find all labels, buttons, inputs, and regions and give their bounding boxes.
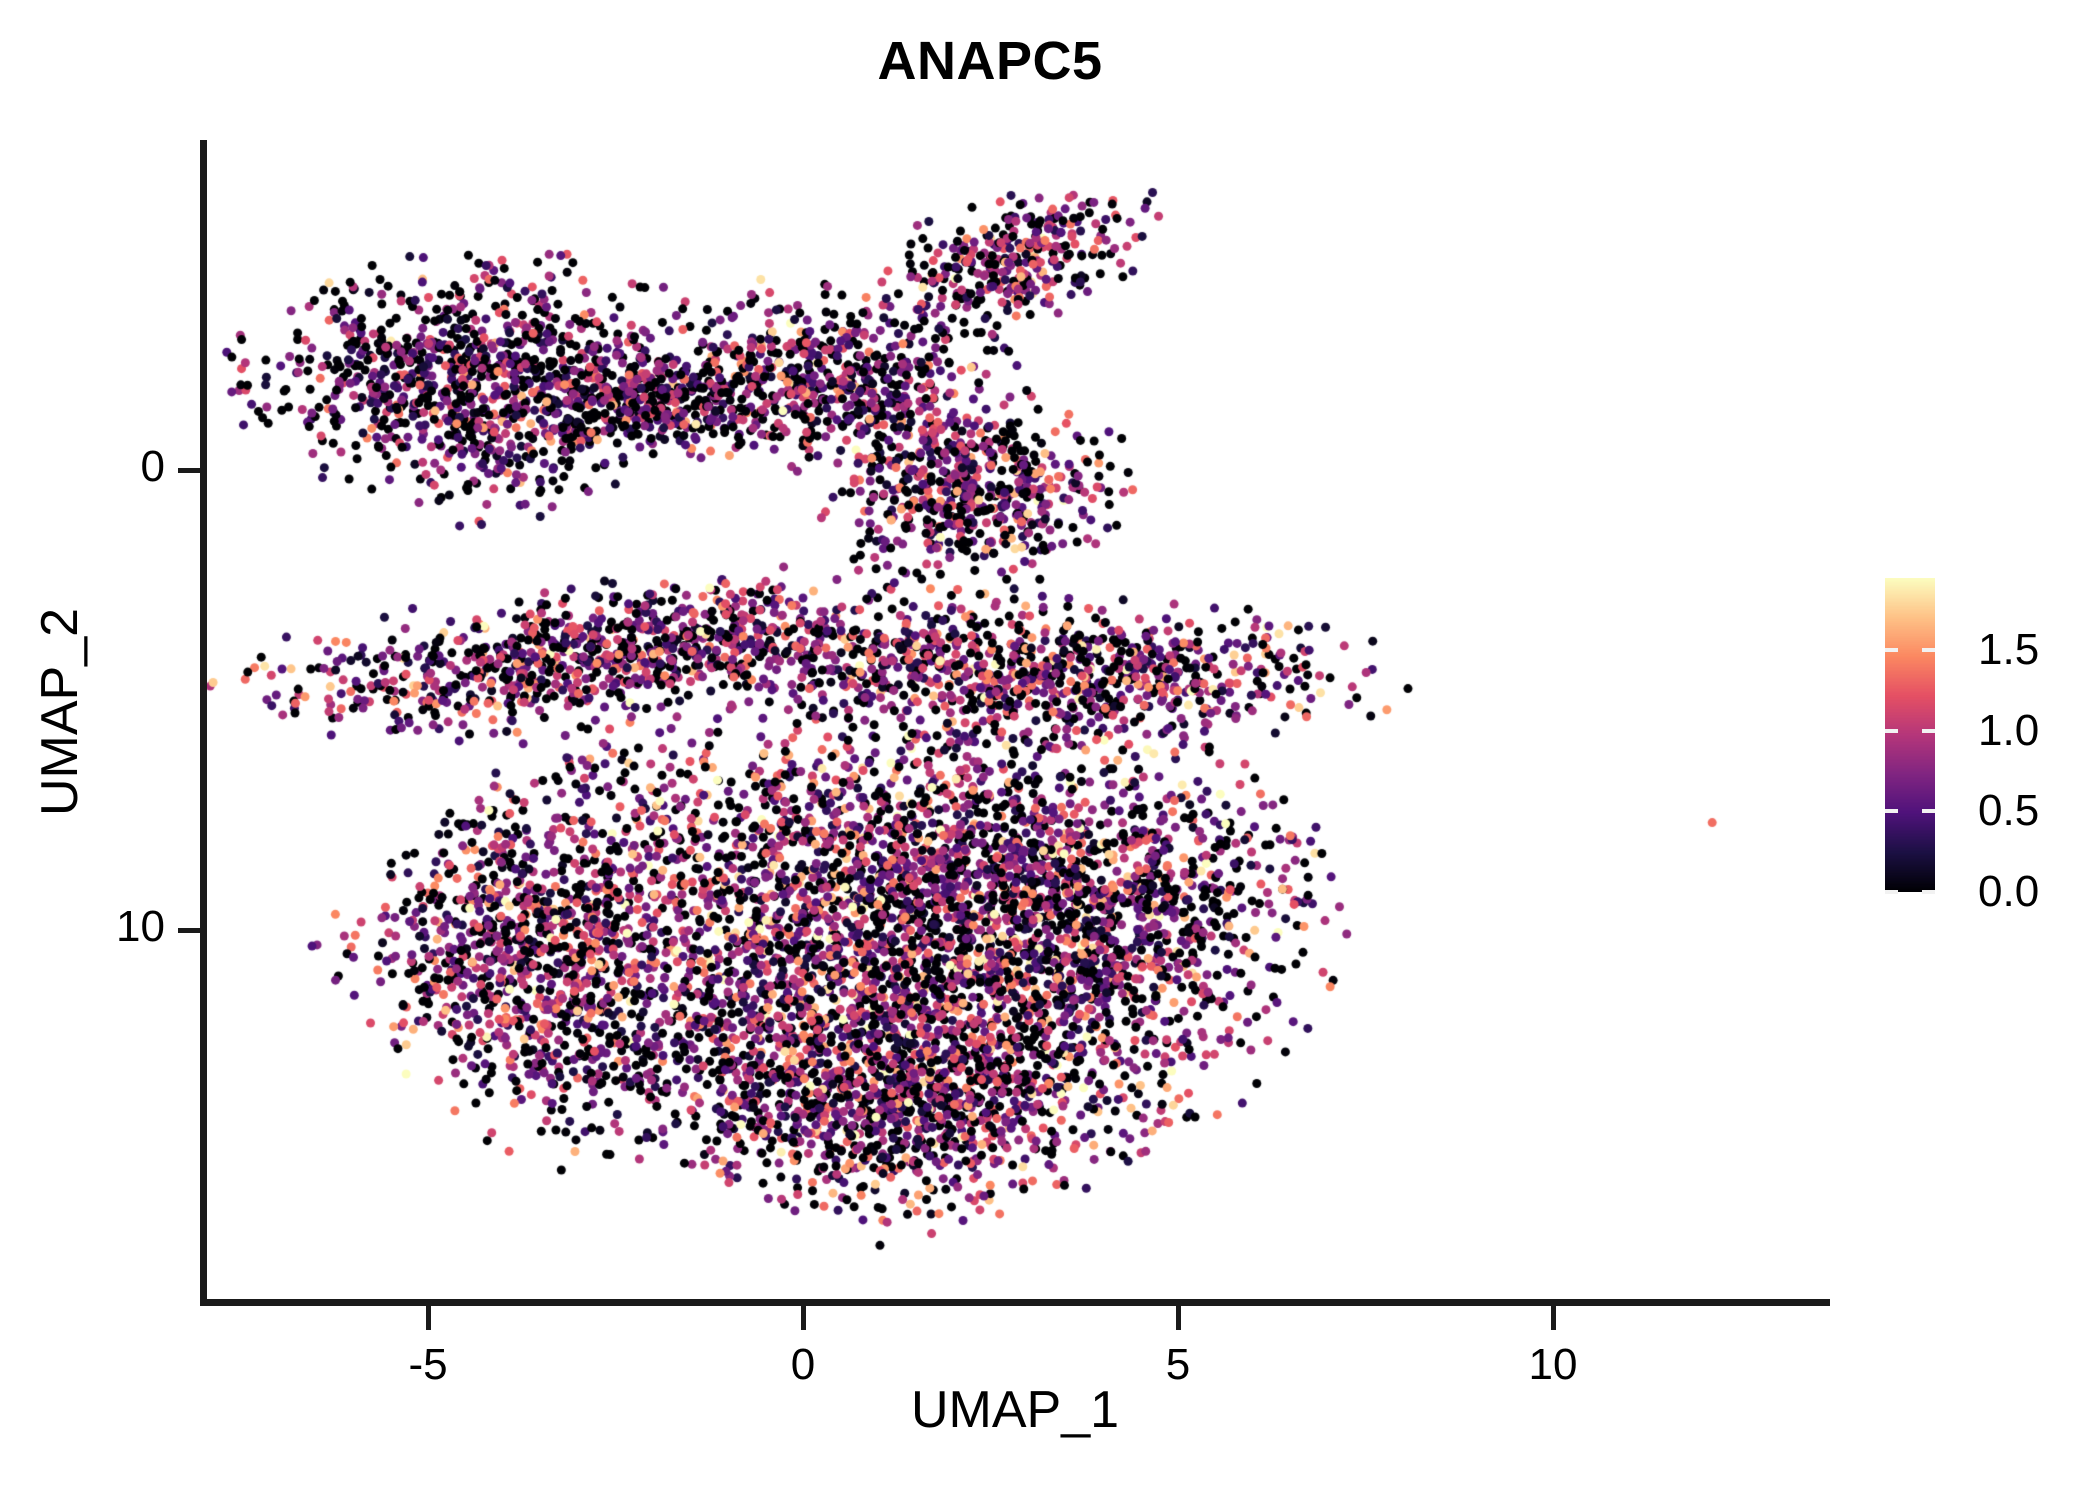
x-tick-mark	[1176, 1306, 1181, 1330]
colorbar-tick-mark	[1922, 890, 1935, 894]
colorbar-tick-mark	[1922, 729, 1935, 733]
x-tick-label: -5	[328, 1340, 528, 1390]
y-tick-mark	[178, 468, 202, 473]
y-axis-line	[200, 140, 207, 1306]
colorbar-tick-mark	[1885, 890, 1898, 894]
umap-feature-plot: ANAPC5 100 -50510 UMAP_1 UMAP_2 0.00.51.…	[0, 0, 2100, 1500]
scatter-plot-canvas	[205, 140, 1830, 1303]
y-axis-title: UMAP_2	[30, 302, 90, 1122]
colorbar-gradient	[1885, 578, 1935, 892]
colorbar-tick-mark	[1885, 648, 1898, 652]
x-axis-title: UMAP_1	[605, 1380, 1425, 1440]
colorbar-tick-mark	[1922, 648, 1935, 652]
colorbar-tick-mark	[1885, 809, 1898, 813]
colorbar-tick-label: 1.5	[1978, 625, 2039, 675]
page-title: ANAPC5	[0, 30, 2040, 92]
plot-panel	[205, 140, 1830, 1303]
colorbar-tick-label: 1.0	[1978, 706, 2039, 756]
x-tick-mark	[1551, 1306, 1556, 1330]
colorbar-tick-mark	[1885, 729, 1898, 733]
x-tick-mark	[801, 1306, 806, 1330]
x-tick-label: 10	[1453, 1340, 1653, 1390]
x-axis-line	[200, 1299, 1830, 1306]
y-tick-mark	[178, 928, 202, 933]
colorbar-tick-label: 0.5	[1978, 786, 2039, 836]
colorbar-tick-mark	[1922, 809, 1935, 813]
colorbar-tick-label: 0.0	[1978, 867, 2039, 917]
x-tick-mark	[426, 1306, 431, 1330]
